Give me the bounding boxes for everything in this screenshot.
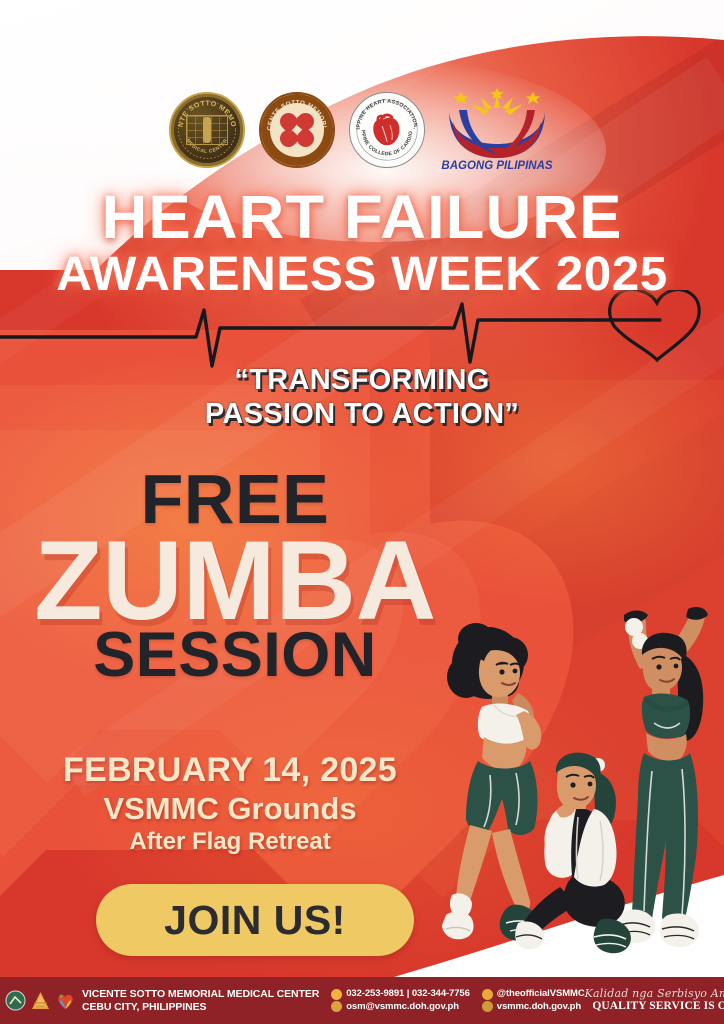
join-us-button[interactable]: JOIN US! (96, 884, 414, 956)
main-event-block: FREE ZUMBA SESSION (0, 466, 470, 685)
footer-bar: VICENTE SOTTO MEMORIAL MEDICAL CENTER CE… (0, 977, 724, 1024)
footer-facebook: @theofficialVSMMC (497, 988, 585, 1000)
footer-motto-script: Kalidad nga Serbisyo Among Garbo! (585, 988, 724, 1000)
event-time-note: After Flag Retreat (0, 828, 460, 856)
headline-line-2: AWARENESS WEEK 2025 (0, 251, 724, 299)
footer-logos (0, 990, 76, 1011)
facebook-icon (482, 989, 493, 1000)
footer-website: vsmmc.doh.gov.ph (497, 1001, 581, 1013)
zumba-label: ZUMBA (0, 529, 470, 632)
event-details: FEBRUARY 14, 2025 VSMMC Grounds After Fl… (0, 752, 460, 856)
doh-seal-icon (5, 990, 26, 1011)
footer-organization: VICENTE SOTTO MEMORIAL MEDICAL CENTER CE… (82, 988, 319, 1013)
footer-motto: Kalidad nga Serbisyo Among Garbo! QUALIT… (585, 988, 724, 1013)
globe-icon (482, 1001, 493, 1012)
tagline-line-1: “TRANSFORMING (0, 364, 724, 398)
tagline-line-2: PASSION TO ACTION” (0, 398, 724, 432)
partner-logos-row: VICENTE SOTTO MEMORIAL MEDICAL CENTER VI… (0, 82, 724, 178)
footer-phone: 032-253-9891 | 032-344-7756 (346, 988, 470, 1000)
footer-email: osm@vsmmc.doh.gov.ph (346, 1001, 459, 1013)
footer-website-row[interactable]: vsmmc.doh.gov.ph (482, 1001, 585, 1013)
footer-org-line2: CEBU CITY, PHILIPPINES (82, 1001, 319, 1013)
footer-curve (0, 955, 724, 977)
regional-heart-center-seal-icon: VICENTE SOTTO MEMORIAL REGIONAL HEART CE… (259, 92, 335, 168)
vsmmc-seal-icon: VICENTE SOTTO MEMORIAL MEDICAL CENTER (169, 92, 245, 168)
footer-social-column: @theofficialVSMMC vsmmc.doh.gov.ph (482, 988, 585, 1013)
footer-org-line1: VICENTE SOTTO MEMORIAL MEDICAL CENTER (82, 988, 319, 1000)
mail-icon (331, 1001, 342, 1012)
philippine-heart-association-seal-icon: PHILIPPINE HEART ASSOCIATION, INC. PHILI… (349, 92, 425, 168)
tagline: “TRANSFORMING PASSION TO ACTION” (0, 364, 724, 431)
footer-email-row[interactable]: osm@vsmmc.doh.gov.ph (331, 1001, 470, 1013)
poster-canvas: VICENTE SOTTO MEMORIAL MEDICAL CENTER VI… (0, 0, 724, 1024)
bagong-pilipinas-logo-icon: BAGONG PILIPINAS (439, 88, 555, 172)
footer-phone-row: 032-253-9891 | 032-344-7756 (331, 988, 470, 1000)
colorful-program-logo-icon (55, 990, 76, 1011)
bayanihan-pyramid-icon (30, 990, 51, 1011)
join-us-label: JOIN US! (164, 897, 346, 944)
headline-line-1: HEART FAILURE (0, 188, 724, 247)
footer-motto-caps: QUALITY SERVICE IS OUR PRIDE! (585, 1000, 724, 1013)
footer-facebook-row[interactable]: @theofficialVSMMC (482, 988, 585, 1000)
footer-contact-column: 032-253-9891 | 032-344-7756 osm@vsmmc.do… (331, 988, 470, 1013)
svg-text:BAGONG PILIPINAS: BAGONG PILIPINAS (441, 160, 553, 172)
headline: HEART FAILURE AWARENESS WEEK 2025 (0, 188, 724, 299)
event-date: FEBRUARY 14, 2025 (0, 752, 460, 789)
phone-icon (331, 989, 342, 1000)
event-venue: VSMMC Grounds (0, 791, 460, 827)
